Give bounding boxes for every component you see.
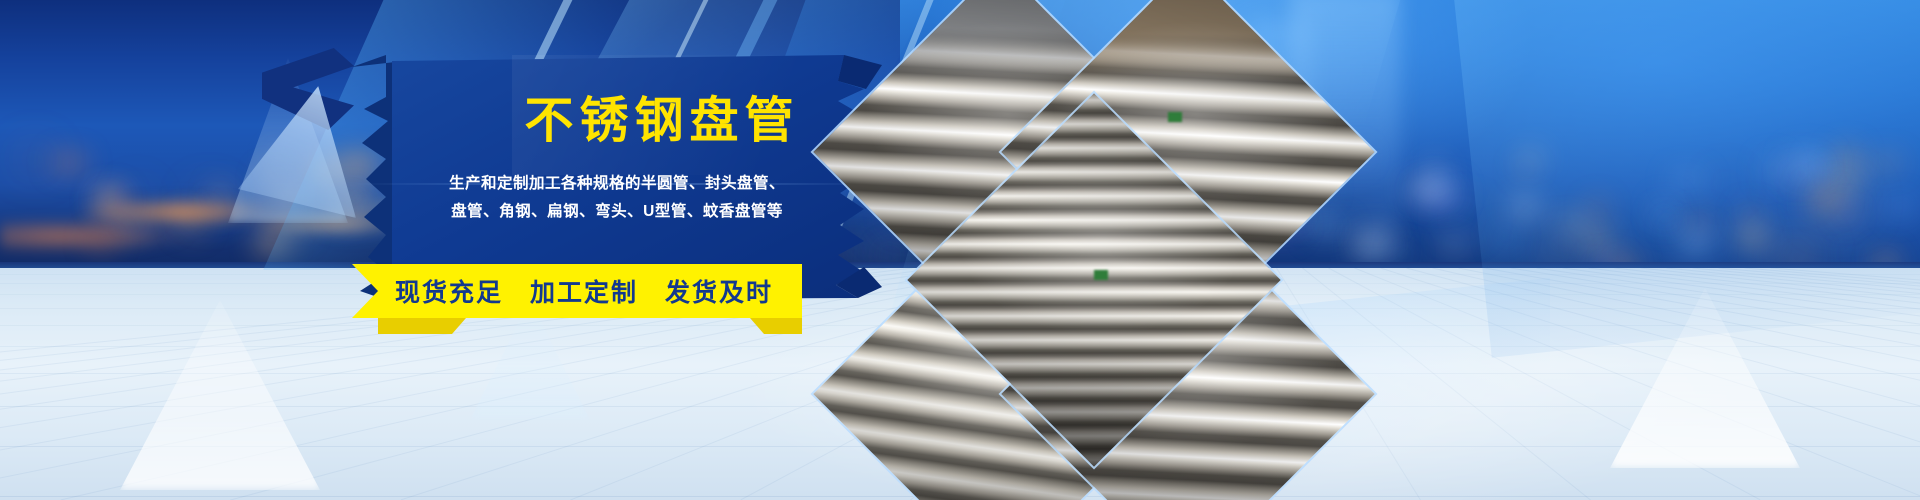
product-photo-diamonds: [830, 0, 1390, 500]
green-marker: [1168, 112, 1182, 122]
bokeh-light: [1780, 249, 1813, 263]
bokeh-light: [1836, 151, 1856, 164]
bokeh-light: [1687, 218, 1709, 227]
bokeh-light: [1518, 166, 1532, 171]
bokeh-light: [1552, 242, 1576, 254]
bokeh-light: [1656, 215, 1674, 222]
ribbon-text: 现货充足 加工定制 发货及时: [352, 264, 802, 318]
bokeh-light: [1765, 161, 1780, 177]
bokeh-light: [1565, 215, 1583, 231]
bokeh-light: [1668, 225, 1676, 230]
ribbon-tail-left: [378, 318, 466, 334]
bokeh-light: [1814, 191, 1836, 205]
panel-subtitle-line-2: 盘管、角钢、扁钢、弯头、U型管、蚊香盘管等: [352, 198, 882, 226]
bokeh-light: [1679, 233, 1711, 252]
panel-title: 不锈钢盘管: [452, 97, 872, 146]
bokeh-light: [1427, 165, 1444, 181]
bokeh-light: [1670, 176, 1706, 183]
bokeh-light: [1787, 176, 1805, 186]
ribbon-tail-right: [750, 318, 802, 334]
green-marker: [1094, 270, 1108, 280]
panel-subtitle-line-1: 生产和定制加工各种规格的半圆管、封头盘管、: [352, 170, 882, 198]
bokeh-light: [1789, 154, 1825, 173]
bokeh-light: [1721, 180, 1730, 187]
features-ribbon: 现货充足 加工定制 发货及时: [352, 256, 802, 334]
bokeh-light: [1586, 235, 1612, 247]
bokeh-light: [1842, 209, 1851, 219]
bokeh-light: [1405, 182, 1445, 196]
bokeh-light: [1520, 153, 1544, 162]
bokeh-light: [1845, 251, 1859, 256]
panel-subtitle: 生产和定制加工各种规格的半圆管、封头盘管、 盘管、角钢、扁钢、弯头、U型管、蚊香…: [352, 170, 882, 226]
bokeh-light: [1442, 216, 1481, 221]
promo-banner: 不锈钢盘管 生产和定制加工各种规格的半圆管、封头盘管、 盘管、角钢、扁钢、弯头、…: [0, 0, 1920, 500]
bokeh-light: [1399, 248, 1408, 261]
bokeh-light: [1498, 230, 1513, 245]
